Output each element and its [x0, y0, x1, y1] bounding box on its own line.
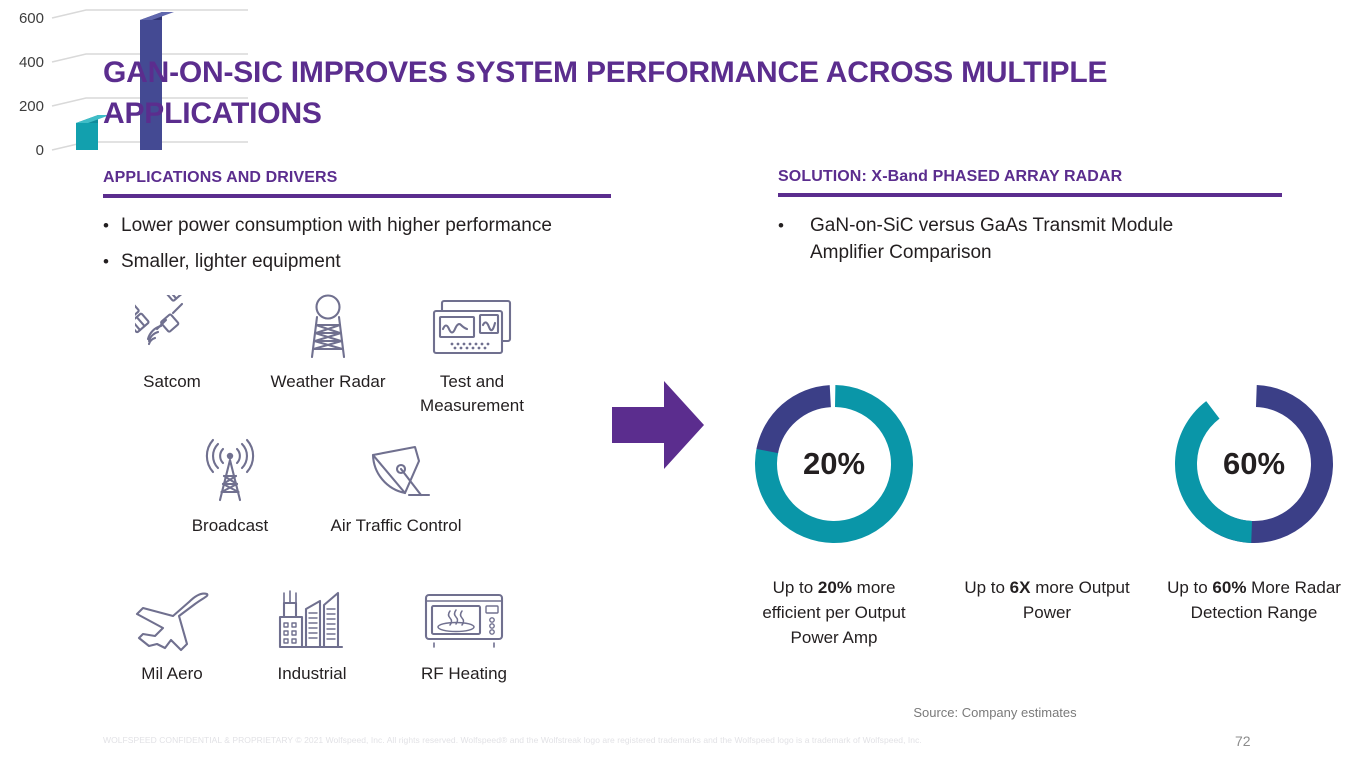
icon-cell-industrial: Industrial	[236, 584, 388, 686]
section-header-solution: SOLUTION: X-Band PHASED ARRAY RADAR	[778, 168, 1122, 186]
airplane-icon	[96, 584, 248, 656]
section-header-applications: APPLICATIONS AND DRIVERS	[103, 169, 337, 187]
caption-pre: Up to	[773, 578, 818, 597]
caption-strong: 60%	[1212, 578, 1246, 597]
caption-post: more Output Power	[1023, 578, 1130, 622]
icon-label: Test and Measurement	[396, 370, 548, 418]
icon-cell-air-traffic-control: Air Traffic Control	[320, 436, 472, 538]
confidentiality-footer: WOLFSPEED CONFIDENTIAL & PROPRIETARY © 2…	[103, 735, 922, 745]
satellite-dish-icon	[320, 436, 472, 508]
oscilloscope-icon	[396, 292, 548, 364]
bullet-dot-icon: •	[103, 212, 121, 239]
page-number: 72	[1235, 733, 1251, 749]
caption-strong: 20%	[818, 578, 852, 597]
donut-center-label: 60%	[1168, 378, 1340, 550]
bullet-dot-icon: •	[103, 248, 121, 275]
bullet-list-right: • GaN-on-SiC versus GaAs Transmit Module…	[778, 212, 1248, 266]
icon-cell-broadcast: Broadcast	[154, 436, 306, 538]
icon-cell-weather-radar: Weather Radar	[252, 292, 404, 394]
icon-cell-satcom: Satcom	[96, 292, 248, 394]
bullet-text: Lower power consumption with higher perf…	[121, 212, 552, 239]
slide-canvas: GaN-on-SiC improves system performance a…	[0, 0, 1365, 768]
icon-label: Broadcast	[154, 514, 306, 538]
page-title: GaN-on-SiC improves system performance a…	[103, 52, 1163, 134]
microwave-oven-icon	[388, 584, 540, 656]
right-arrow-icon	[608, 375, 708, 480]
icon-label: RF Heating	[388, 662, 540, 686]
chart-ytick-labels: 600 400 200 0	[19, 10, 44, 159]
svg-text:400: 400	[19, 54, 44, 71]
source-note: Source: Company estimates	[740, 705, 1250, 720]
svg-text:0: 0	[36, 142, 44, 159]
svg-text:600: 600	[19, 10, 44, 27]
donut-center-label: 20%	[748, 378, 920, 550]
satellite-icon	[96, 292, 248, 364]
list-item: • Smaller, lighter equipment	[103, 248, 723, 275]
weather-radar-tower-icon	[252, 292, 404, 364]
bullet-text: Smaller, lighter equipment	[121, 248, 341, 275]
bullet-text: GaN-on-SiC versus GaAs Transmit Module A…	[810, 212, 1248, 266]
section-divider-left	[103, 194, 611, 198]
caption-pre: Up to	[964, 578, 1009, 597]
icon-cell-rf-heating: RF Heating	[388, 584, 540, 686]
icon-label: Weather Radar	[252, 370, 404, 394]
section-divider-right	[778, 193, 1282, 197]
list-item: • Lower power consumption with higher pe…	[103, 212, 723, 239]
caption-pre: Up to	[1167, 578, 1212, 597]
icon-cell-mil-aero: Mil Aero	[96, 584, 248, 686]
icon-cell-test-measurement: Test and Measurement	[396, 292, 548, 418]
donut-chart-detection-range: 60%	[1168, 378, 1340, 550]
svg-text:200: 200	[19, 98, 44, 115]
bullet-list-left: • Lower power consumption with higher pe…	[103, 212, 723, 284]
caption-efficiency: Up to 20% more efficient per Output Powe…	[742, 575, 926, 650]
caption-detection-range: Up to 60% More Radar Detection Range	[1162, 575, 1346, 625]
icon-label: Industrial	[236, 662, 388, 686]
icon-label: Satcom	[96, 370, 248, 394]
bullet-dot-icon: •	[778, 212, 810, 239]
caption-output-power: Up to 6X more Output Power	[955, 575, 1139, 625]
broadcast-tower-icon	[154, 436, 306, 508]
caption-strong: 6X	[1010, 578, 1031, 597]
icon-label: Air Traffic Control	[320, 514, 472, 538]
factory-icon	[236, 584, 388, 656]
list-item: • GaN-on-SiC versus GaAs Transmit Module…	[778, 212, 1248, 266]
icon-label: Mil Aero	[96, 662, 248, 686]
donut-chart-efficiency: 20%	[748, 378, 920, 550]
